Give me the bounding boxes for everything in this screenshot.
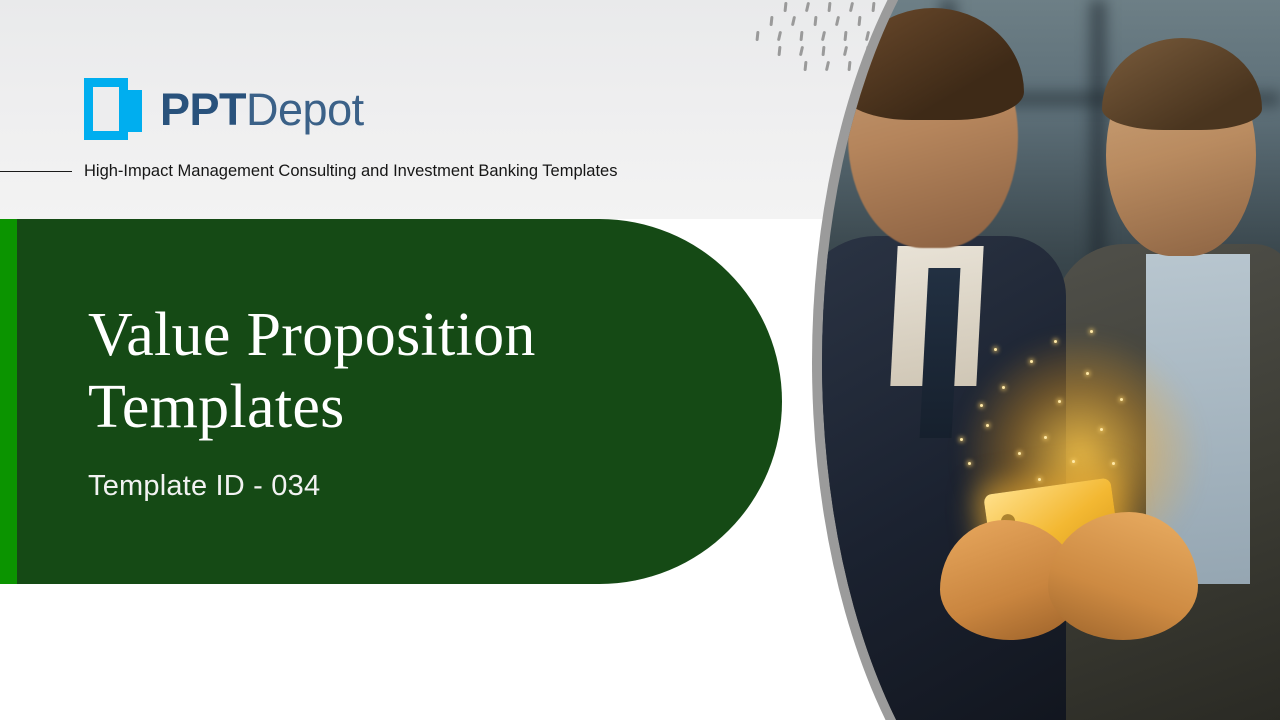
sparkle-dot: [994, 348, 997, 351]
dash-mark: [769, 16, 773, 26]
title-line-1: Value Proposition: [88, 301, 536, 369]
sparkle-dot: [968, 462, 971, 465]
dash-mark: [783, 2, 787, 12]
sparkle-dot: [1058, 400, 1061, 403]
sparkle-dot: [1002, 386, 1005, 389]
page-title: Value Proposition Templates: [88, 300, 728, 444]
dash-mark: [755, 31, 759, 41]
sparkle-dot: [1030, 360, 1033, 363]
brand-name-light: Depot: [246, 84, 364, 135]
sparkle-dot: [1054, 340, 1057, 343]
tagline-text: High-Impact Management Consulting and In…: [84, 162, 618, 181]
sparkle-dot: [1072, 460, 1075, 463]
sparkle-dot: [986, 424, 989, 427]
sparkle-dot: [1120, 398, 1123, 401]
presentation-slide: PPTDepot High-Impact Management Consulti…: [0, 0, 1280, 720]
dash-mark: [777, 46, 781, 56]
tagline-rule: [0, 171, 72, 172]
brand-name-bold: PPT: [160, 84, 246, 135]
sparkle-dot: [1044, 436, 1047, 439]
two-businessmen-looking-at-glowing-phone: [822, 0, 1280, 720]
template-id-subtitle: Template ID - 034: [88, 470, 728, 503]
sparkle-dot: [980, 404, 983, 407]
photo-clip-shape: [822, 0, 1280, 720]
title-block: Value Proposition Templates Template ID …: [88, 300, 728, 503]
sparkle-dot: [960, 438, 963, 441]
hero-photo-region: [790, 0, 1280, 720]
sparkle-dot: [1090, 330, 1093, 333]
sparkle-dot: [1018, 452, 1021, 455]
sparkle-dot: [1112, 462, 1115, 465]
dash-mark: [777, 31, 782, 41]
sparkle-dot: [1100, 428, 1103, 431]
tagline-row: High-Impact Management Consulting and In…: [0, 162, 760, 181]
brand-wordmark: PPTDepot: [160, 87, 364, 132]
sparkle-dot: [1086, 372, 1089, 375]
title-line-2: Templates: [88, 373, 345, 441]
brand-logo[interactable]: PPTDepot: [84, 78, 364, 140]
sparkle-dot: [1038, 478, 1041, 481]
double-square-logo-icon: [84, 78, 142, 140]
accent-bar: [0, 219, 17, 584]
